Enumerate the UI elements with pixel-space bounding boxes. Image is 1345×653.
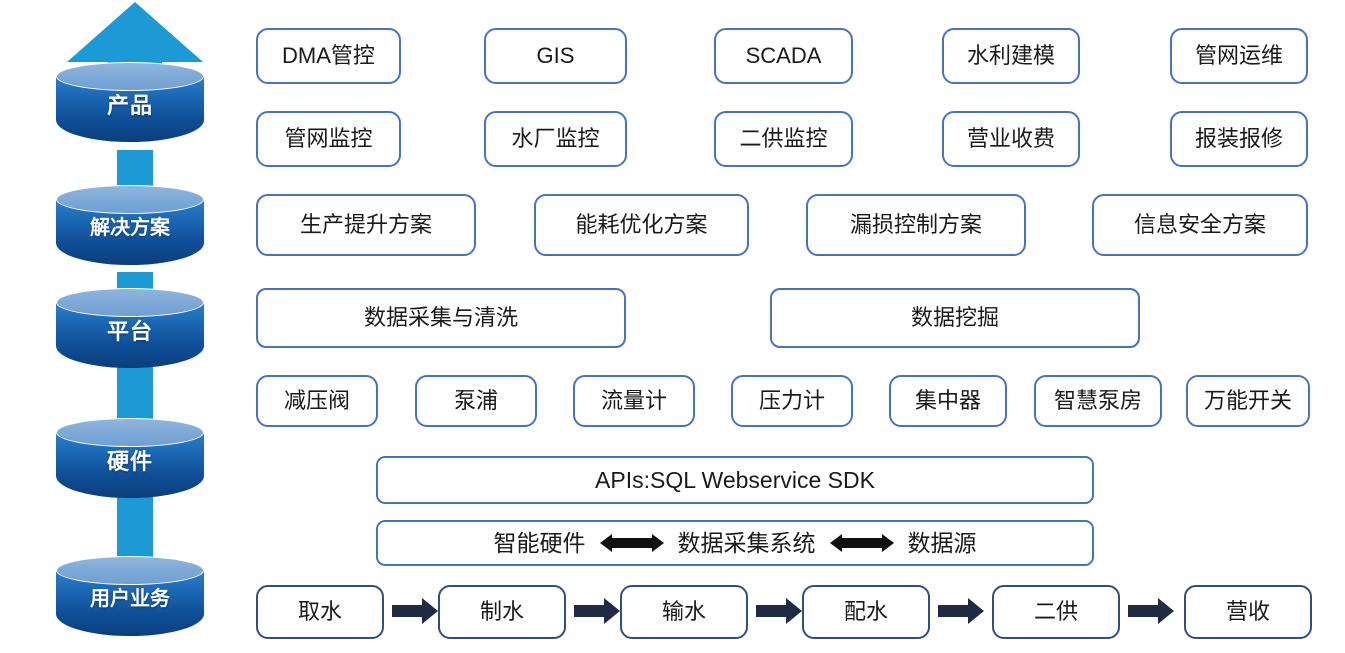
platform-node-data-mining[interactable]: 数据挖掘 (770, 288, 1140, 348)
product-node-install-repair[interactable]: 报装报修 (1170, 111, 1308, 167)
solution-node-information-security[interactable]: 信息安全方案 (1092, 194, 1308, 256)
node-label: 数据采集与清洗 (364, 307, 518, 329)
right-arrow-icon-5 (1128, 598, 1174, 624)
node-label: DMA管控 (282, 45, 375, 67)
business-node-revenue[interactable]: 营收 (1184, 585, 1312, 639)
product-node-plant-monitoring[interactable]: 水厂监控 (484, 111, 627, 167)
datasource-part-smart-hardware: 智能硬件 (494, 532, 586, 555)
stack-layer-business[interactable]: 用户业务 (56, 556, 204, 644)
layer-stack-column: 产品 解决方案 平台 硬件 用户业务 (0, 0, 240, 653)
node-label: 取水 (298, 601, 342, 623)
hardware-node-pump[interactable]: 泵浦 (415, 375, 537, 427)
hardware-node-universal-switch[interactable]: 万能开关 (1186, 375, 1310, 427)
node-label: 压力计 (759, 390, 825, 412)
business-node-transmission[interactable]: 输水 (620, 585, 748, 639)
cylinder-top-cap (56, 62, 204, 91)
stack-layer-product[interactable]: 产品 (56, 62, 204, 150)
business-node-secondary-supply[interactable]: 二供 (992, 585, 1120, 639)
stack-layer-hardware-label: 硬件 (56, 444, 204, 476)
datasource-part-collection-system: 数据采集系统 (678, 532, 816, 555)
node-label: 生产提升方案 (300, 214, 432, 236)
node-label: 配水 (844, 601, 888, 623)
business-node-distribution[interactable]: 配水 (802, 585, 930, 639)
cylinder-top-cap (56, 288, 204, 317)
node-label: 流量计 (601, 390, 667, 412)
right-arrow-icon-2 (574, 598, 620, 624)
stack-layer-business-label: 用户业务 (56, 582, 204, 611)
product-node-secondary-supply-monitoring[interactable]: 二供监控 (714, 111, 853, 167)
hardware-node-flow-meter[interactable]: 流量计 (573, 375, 695, 427)
node-label: 输水 (662, 601, 706, 623)
stack-layer-solution-label: 解决方案 (56, 211, 204, 240)
node-label: SCADA (746, 45, 822, 67)
node-label: 营收 (1226, 601, 1270, 623)
product-node-billing[interactable]: 营业收费 (942, 111, 1080, 167)
api-bar[interactable]: APIs:SQL Webservice SDK (376, 456, 1094, 504)
product-node-pipe-network-monitoring[interactable]: 管网监控 (256, 111, 401, 167)
hardware-node-pressure-gauge[interactable]: 压力计 (731, 375, 853, 427)
business-node-intake[interactable]: 取水 (256, 585, 384, 639)
node-label: 能耗优化方案 (575, 214, 707, 236)
node-label: 万能开关 (1204, 390, 1292, 412)
node-label: 水厂监控 (511, 128, 599, 150)
stack-layer-solution[interactable]: 解决方案 (56, 185, 204, 273)
product-node-gis[interactable]: GIS (484, 28, 627, 84)
product-node-pipe-network-om[interactable]: 管网运维 (1170, 28, 1308, 84)
business-node-treatment[interactable]: 制水 (438, 585, 566, 639)
cylinder-top-cap (56, 418, 204, 447)
product-node-hydraulic-modeling[interactable]: 水利建模 (942, 28, 1080, 84)
double-arrow-icon (830, 534, 894, 552)
node-label: 制水 (480, 601, 524, 623)
product-node-scada[interactable]: SCADA (714, 28, 853, 84)
node-label: 泵浦 (454, 390, 498, 412)
platform-node-data-collection-cleaning[interactable]: 数据采集与清洗 (256, 288, 626, 348)
node-label: 管网监控 (284, 128, 372, 150)
node-label: 减压阀 (284, 390, 350, 412)
node-label: 报装报修 (1195, 128, 1283, 150)
node-label: 信息安全方案 (1134, 214, 1266, 236)
node-label: 二供 (1034, 601, 1078, 623)
solution-node-production-improvement[interactable]: 生产提升方案 (256, 194, 476, 256)
node-label: 数据挖掘 (911, 307, 999, 329)
datasource-part-data-source: 数据源 (908, 532, 977, 555)
right-arrow-icon-4 (938, 598, 984, 624)
stack-layer-platform[interactable]: 平台 (56, 288, 204, 376)
node-label: 水利建模 (967, 45, 1055, 67)
stack-layer-hardware[interactable]: 硬件 (56, 418, 204, 506)
hardware-node-pressure-reducing-valve[interactable]: 减压阀 (256, 375, 378, 427)
product-node-dma[interactable]: DMA管控 (256, 28, 401, 84)
cylinder-top-cap (56, 185, 204, 214)
stack-layer-product-label: 产品 (56, 88, 204, 120)
node-label: 管网运维 (1195, 45, 1283, 67)
node-label: 漏损控制方案 (850, 214, 982, 236)
hardware-node-concentrator[interactable]: 集中器 (889, 375, 1007, 427)
node-label: 智慧泵房 (1054, 390, 1142, 412)
hardware-node-smart-pump-room[interactable]: 智慧泵房 (1034, 375, 1162, 427)
solution-node-energy-optimization[interactable]: 能耗优化方案 (534, 194, 749, 256)
double-arrow-icon (600, 534, 664, 552)
node-label: GIS (537, 45, 575, 67)
node-label: 二供监控 (739, 128, 827, 150)
datasource-bar[interactable]: 智能硬件 数据采集系统 数据源 (376, 520, 1094, 566)
node-label: 营业收费 (967, 128, 1055, 150)
api-bar-label: APIs:SQL Webservice SDK (595, 469, 875, 492)
right-arrow-icon-3 (756, 598, 802, 624)
cylinder-top-cap (56, 556, 204, 585)
stack-layer-platform-label: 平台 (56, 314, 204, 346)
solution-node-leakage-control[interactable]: 漏损控制方案 (806, 194, 1026, 256)
diagram-canvas: 产品 解决方案 平台 硬件 用户业务 DMA管控 GI (0, 0, 1345, 653)
node-label: 集中器 (915, 390, 981, 412)
right-arrow-icon-1 (392, 598, 438, 624)
